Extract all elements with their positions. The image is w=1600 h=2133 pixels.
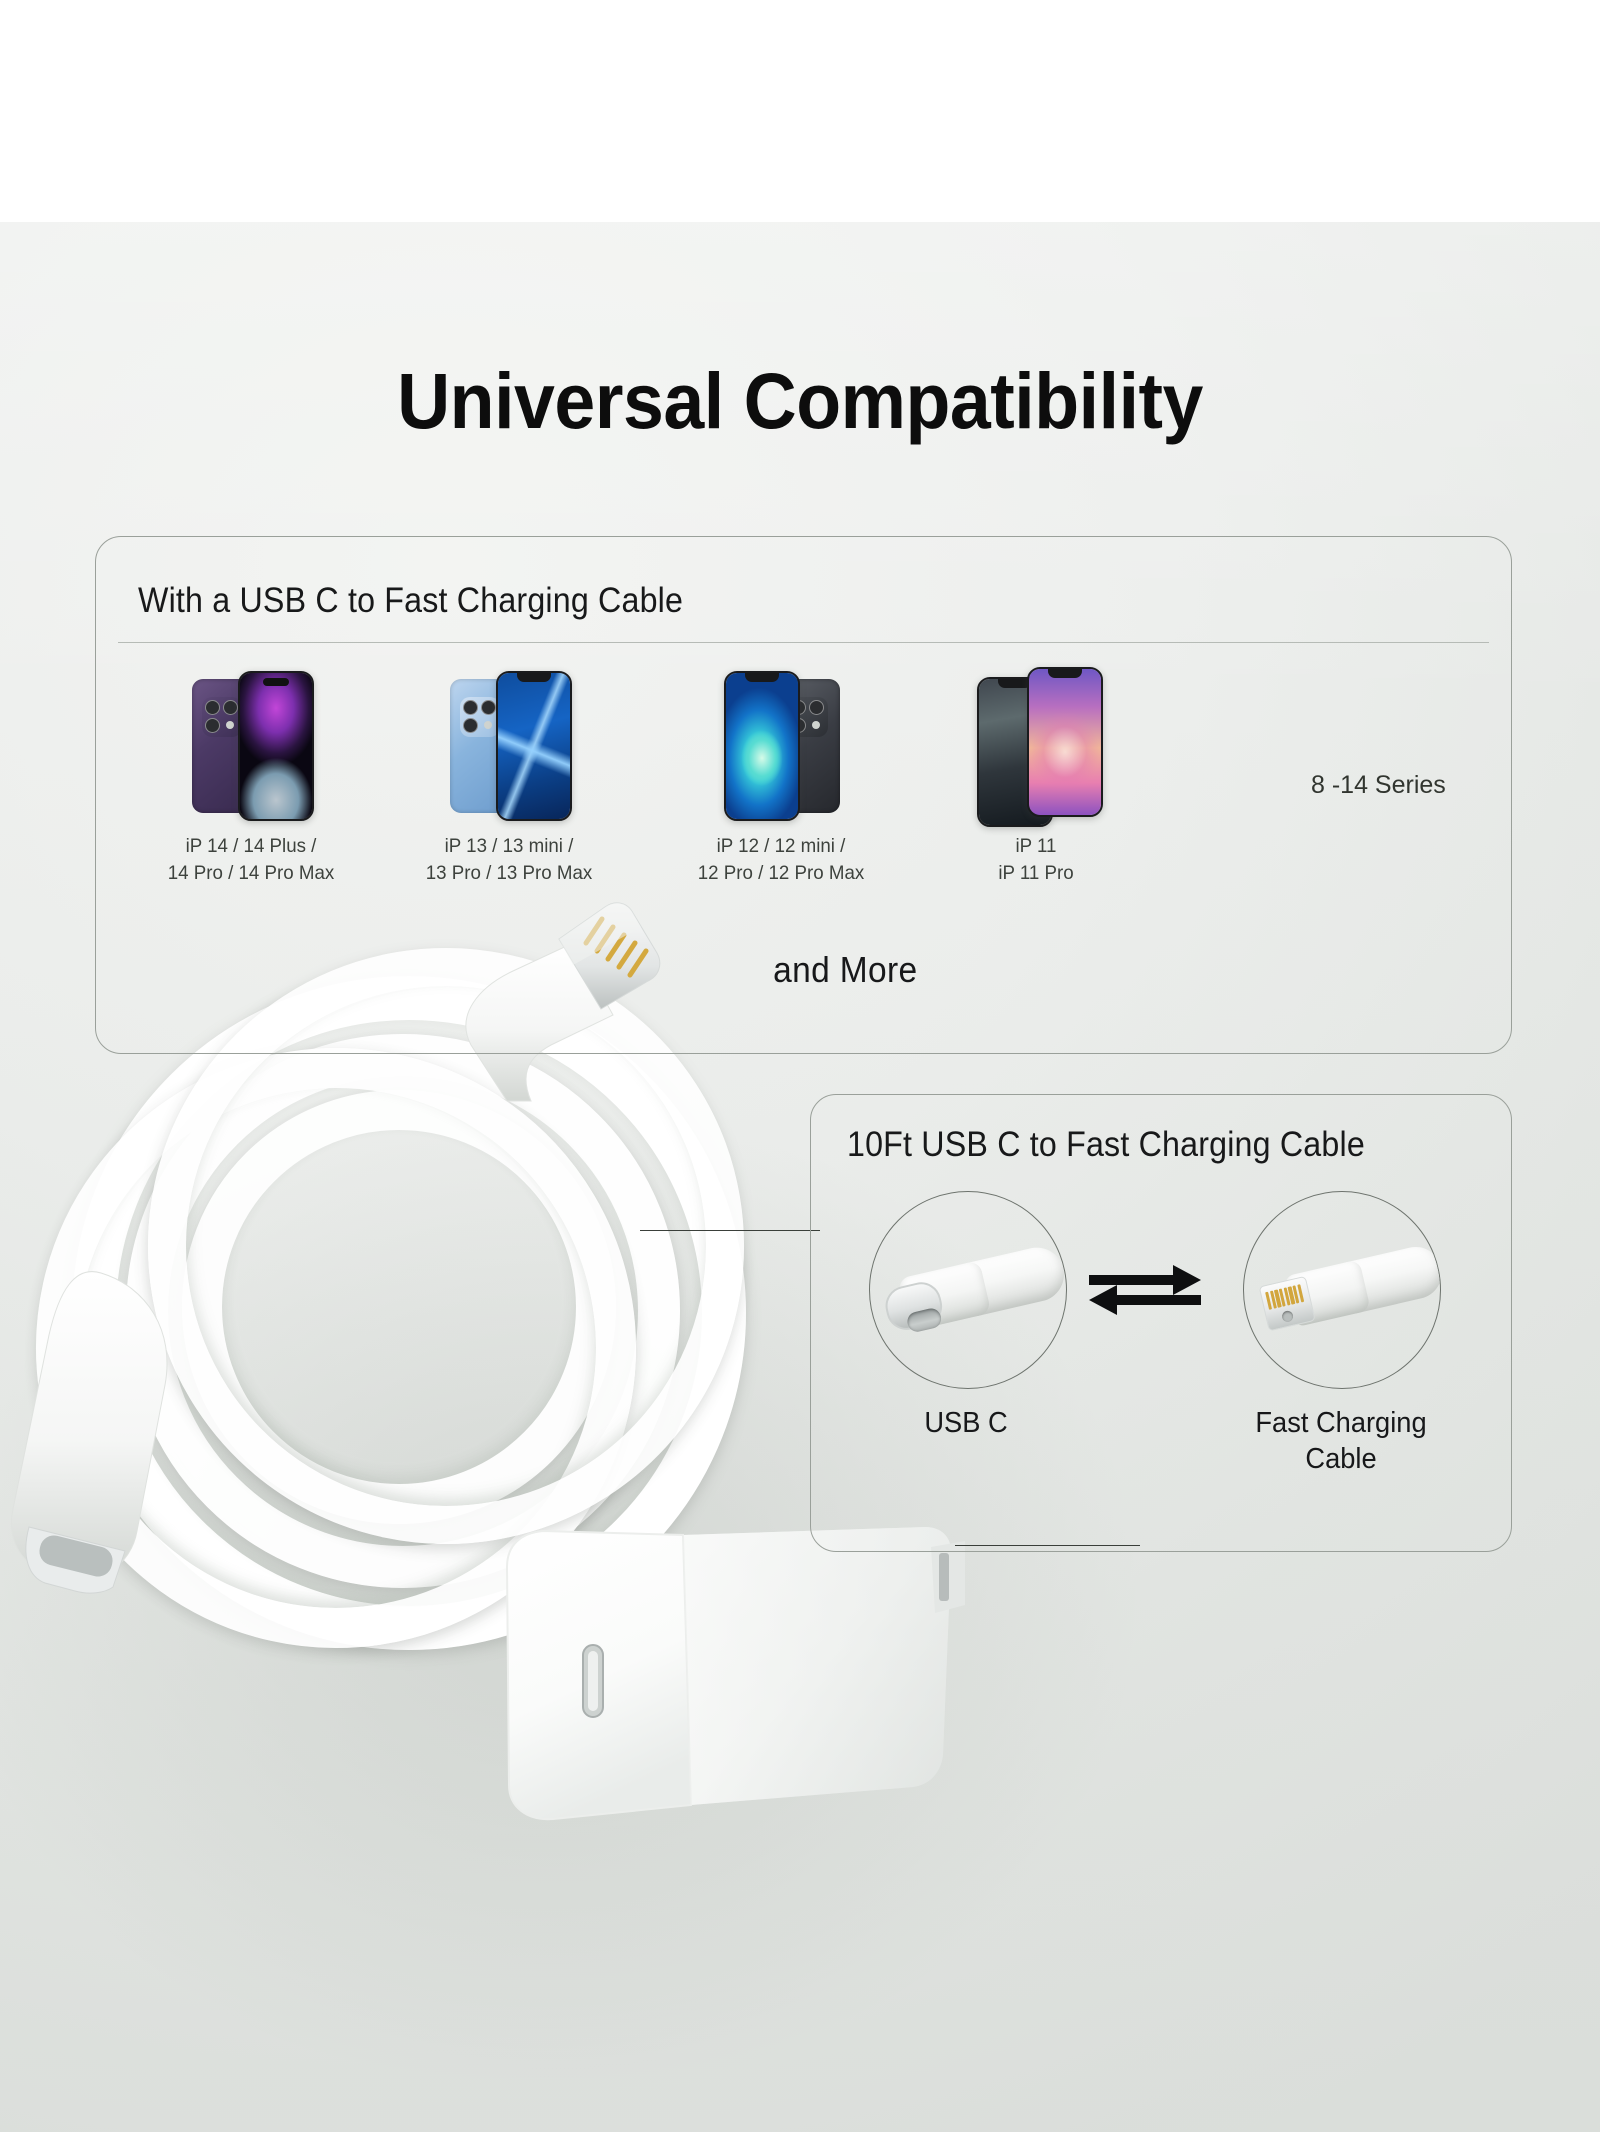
phone-list: iP 14 / 14 Plus / 14 Pro / 14 Pro Max iP…	[96, 667, 1511, 917]
card-divider	[118, 642, 1489, 643]
and-more-label: and More	[773, 949, 917, 991]
bidirectional-arrow-icon	[1087, 1259, 1203, 1321]
usb-c-connector-icon	[869, 1191, 1067, 1389]
phone-item-label: iP 11 iP 11 Pro	[916, 833, 1156, 887]
compatibility-card-heading: With a USB C to Fast Charging Cable	[138, 581, 683, 621]
compatibility-card: With a USB C to Fast Charging Cable iP 1…	[95, 536, 1512, 1054]
phone-item-label: iP 12 / 12 mini / 12 Pro / 12 Pro Max	[661, 833, 901, 887]
page-title: Universal Compatibility	[56, 355, 1544, 447]
connector-diagram: USB C Fast Charging Cable	[811, 1191, 1511, 1441]
callout-line-cable	[640, 1230, 820, 1231]
and-more-text: and More	[146, 949, 1462, 991]
phone-item-iphone-14: iP 14 / 14 Plus / 14 Pro / 14 Pro Max	[126, 667, 376, 887]
usb-c-plug	[5, 1265, 225, 1595]
phone-item-label: iP 14 / 14 Plus / 14 Pro / 14 Pro Max	[131, 833, 371, 887]
cable-card: 10Ft USB C to Fast Charging Cable	[810, 1094, 1512, 1552]
phone-item-iphone-13: iP 13 / 13 mini / 13 Pro / 13 Pro Max	[384, 667, 634, 887]
iphone-11-image	[971, 667, 1101, 819]
usb-c-power-adapter	[495, 1505, 965, 1855]
iphone-13-image	[444, 667, 574, 819]
series-note: 8 -14 Series	[1311, 771, 1446, 800]
iphone-14-image	[186, 667, 316, 819]
iphone-12-image	[716, 667, 846, 819]
phone-item-iphone-11: iP 11 iP 11 Pro	[911, 667, 1161, 887]
product-infographic: Universal Compatibility	[0, 0, 1600, 2133]
phone-item-label: iP 13 / 13 mini / 13 Pro / 13 Pro Max	[389, 833, 629, 887]
lightning-connector-icon	[1243, 1191, 1441, 1389]
cable-card-heading: 10Ft USB C to Fast Charging Cable	[847, 1125, 1365, 1165]
phone-item-iphone-12: iP 12 / 12 mini / 12 Pro / 12 Pro Max	[656, 667, 906, 887]
fast-charging-cable-label: Fast Charging Cable	[1233, 1405, 1449, 1477]
usb-c-label: USB C	[858, 1405, 1074, 1441]
